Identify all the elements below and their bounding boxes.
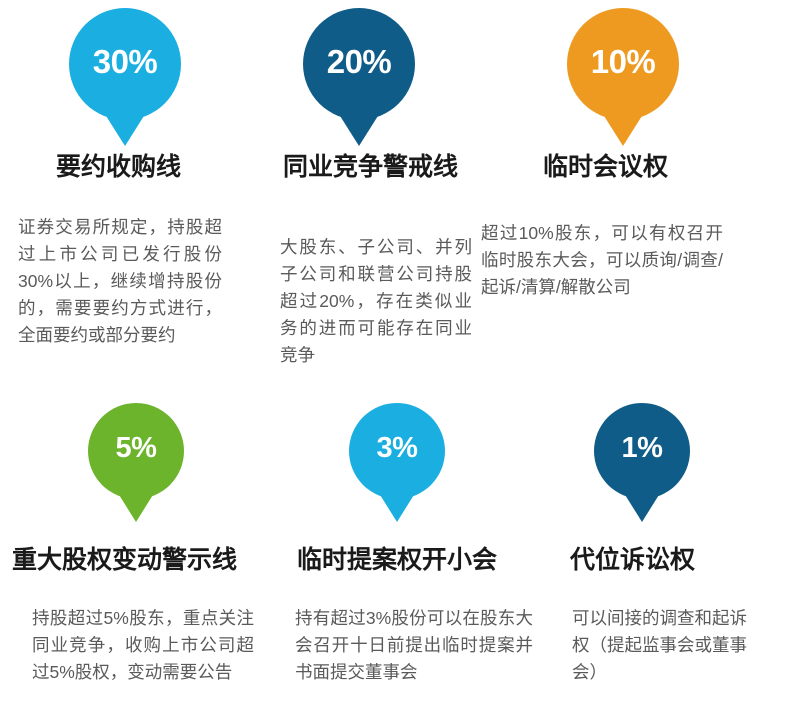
shareholding-threshold-infographic: 30% 要约收购线 证券交易所规定，持股超过上市公司已发行股份30%以上，继续增… <box>0 0 800 723</box>
card-body-20: 大股东、子公司、并列子公司和联营公司持股超过20%，存在类似业务的进而可能存在同… <box>280 234 472 370</box>
card-body-10: 超过10%股东，可以有权召开临时股东大会，可以质询/调查/起诉/清算/解散公司 <box>481 220 723 301</box>
threshold-card-20: 20% 同业竞争警戒线 大股东、子公司、并列子公司和联营公司持股超过20%，存在… <box>268 0 481 395</box>
map-pin-icon-3: 3% <box>349 403 445 499</box>
threshold-card-5: 5% 重大股权变动警示线 持股超过5%股东，重点关注同业竞争，收购上市公司超过5… <box>0 395 283 723</box>
pin-percent-label-10: 10% <box>591 45 656 78</box>
pin-percent-label-30: 30% <box>93 45 158 78</box>
threshold-card-1: 1% 代位诉讼权 可以间接的调查和起诉权（提起监事会或董事会） <box>548 395 800 723</box>
map-pin-icon-10: 10% <box>567 8 679 120</box>
card-body-3: 持有超过3%股份可以在股东大会召开十日前提出临时提案并书面提交董事会 <box>295 605 533 686</box>
map-pin-icon-1: 1% <box>594 403 690 499</box>
threshold-card-10: 10% 临时会议权 超过10%股东，可以有权召开临时股东大会，可以质询/调查/起… <box>481 0 800 395</box>
map-pin-icon-5: 5% <box>88 403 184 499</box>
infographic-row-top: 30% 要约收购线 证券交易所规定，持股超过上市公司已发行股份30%以上，继续增… <box>0 0 800 395</box>
map-pin-icon-20: 20% <box>303 8 415 120</box>
card-title-30: 要约收购线 <box>56 154 268 182</box>
pin-percent-label-3: 3% <box>377 434 418 463</box>
pin-wrap-10: 10% <box>481 0 800 140</box>
threshold-card-30: 30% 要约收购线 证券交易所规定，持股超过上市公司已发行股份30%以上，继续增… <box>0 0 268 395</box>
map-pin-icon-30: 30% <box>69 8 181 120</box>
card-body-5: 持股超过5%股东，重点关注同业竞争，收购上市公司超过5%股权，变动需要公告 <box>32 605 254 686</box>
card-body-30: 证券交易所规定，持股超过上市公司已发行股份30%以上，继续增持股份的，需要要约方… <box>18 214 222 350</box>
card-title-5: 重大股权变动警示线 <box>12 547 283 575</box>
threshold-card-3: 3% 临时提案权开小会 持有超过3%股份可以在股东大会召开十日前提出临时提案并书… <box>283 395 548 723</box>
card-title-1: 代位诉讼权 <box>570 547 800 575</box>
pin-wrap-30: 30% <box>0 0 268 140</box>
pin-wrap-5: 5% <box>0 395 283 535</box>
card-title-10: 临时会议权 <box>543 154 800 182</box>
card-title-3: 临时提案权开小会 <box>297 547 548 575</box>
pin-wrap-20: 20% <box>268 0 481 140</box>
pin-percent-label-5: 5% <box>116 434 157 463</box>
infographic-row-bottom: 5% 重大股权变动警示线 持股超过5%股东，重点关注同业竞争，收购上市公司超过5… <box>0 395 800 723</box>
pin-wrap-1: 1% <box>548 395 800 535</box>
pin-percent-label-20: 20% <box>327 45 392 78</box>
pin-percent-label-1: 1% <box>622 434 663 463</box>
pin-wrap-3: 3% <box>283 395 548 535</box>
card-body-1: 可以间接的调查和起诉权（提起监事会或董事会） <box>572 605 750 686</box>
card-title-20: 同业竞争警戒线 <box>283 154 481 182</box>
